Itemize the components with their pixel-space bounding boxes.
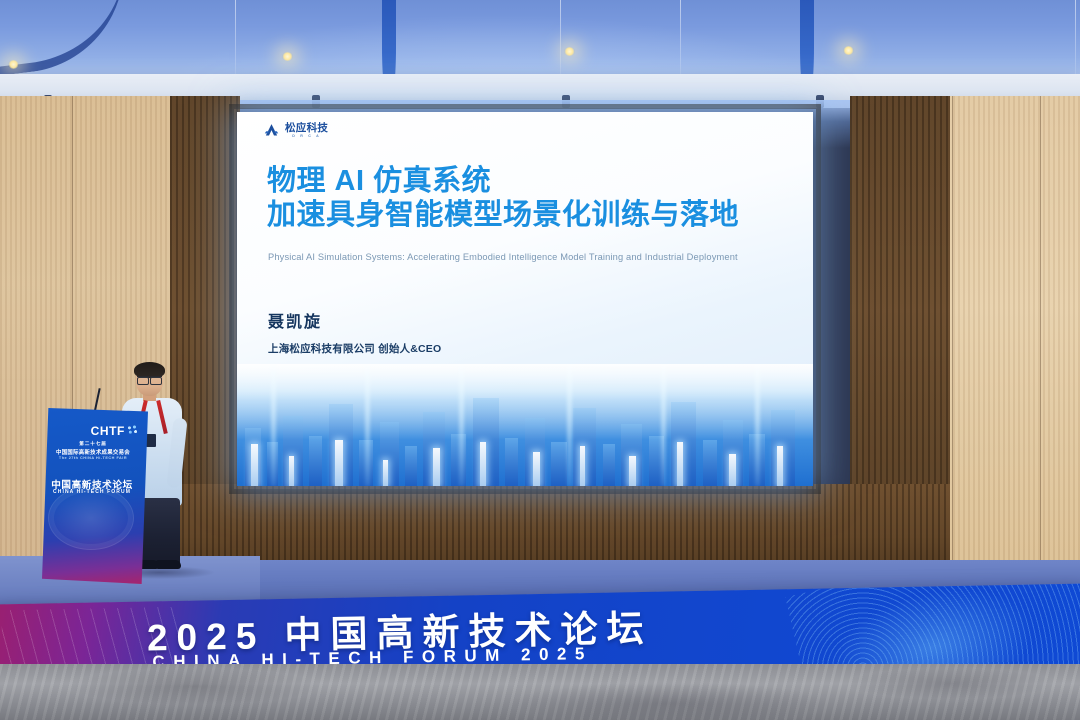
conference-stage-photo: 松应科技 D R C A 物理 AI 仿真系统 加速具身智能模型场景化训练与落地…	[0, 0, 1080, 720]
slide-title-line2: 加速具身智能模型场景化训练与落地	[267, 198, 787, 232]
venue-floor	[0, 664, 1080, 720]
slide: 松应科技 D R C A 物理 AI 仿真系统 加速具身智能模型场景化训练与落地…	[237, 112, 813, 486]
podium-ripple-graphic	[48, 486, 134, 550]
wall-panel-right	[938, 96, 1080, 566]
slide-title: 物理 AI 仿真系统 加速具身智能模型场景化训练与落地	[267, 164, 787, 232]
podium-brand: CHTF	[91, 424, 138, 438]
ceiling-downlight-icon	[564, 47, 575, 56]
slide-title-line1: 物理 AI 仿真系统	[267, 164, 787, 198]
floor-texture	[0, 664, 1080, 720]
wall-panel-dark-bottom	[170, 484, 950, 572]
podium-fair-cn: 中国国际高新技术成果交易会	[42, 448, 144, 456]
slide-cityscape-image	[237, 364, 813, 486]
badge-icon	[146, 434, 156, 447]
glasses-icon	[137, 376, 162, 382]
podium-brand-text: CHTF	[91, 424, 125, 438]
ceiling-downlight-icon	[843, 46, 854, 55]
ceiling-downlight-icon	[282, 52, 293, 61]
chtf-dots-icon	[127, 425, 138, 435]
presentation-screen: 松应科技 D R C A 物理 AI 仿真系统 加速具身智能模型场景化训练与落地…	[237, 112, 813, 486]
ceiling-arc	[0, 0, 136, 82]
wall-seam	[952, 96, 953, 572]
slide-subtitle-en: Physical AI Simulation Systems: Accelera…	[268, 252, 738, 262]
logo-name-cn: 松应科技	[285, 123, 328, 134]
podium-edition-cn: 第二十七届	[42, 441, 144, 447]
wall-seam	[1040, 96, 1041, 572]
podium: CHTF 第二十七届 中国国际高新技术成果交易会 The 27th CHINA …	[42, 408, 148, 584]
mountain-mark-icon	[263, 122, 280, 139]
slide-speaker-name: 聂凯旋	[268, 308, 441, 332]
ceiling-downlight-icon	[8, 60, 19, 69]
podium-fair-en: The 27th CHINA Hi-TECH FAIR	[42, 456, 144, 460]
podium-forum-en: CHINA HI-TECH FORUM	[42, 489, 142, 495]
slide-speaker-block: 聂凯旋 上海松应科技有限公司 创始人&CEO	[268, 308, 441, 356]
slide-speaker-role: 上海松应科技有限公司 创始人&CEO	[268, 341, 441, 356]
company-logo: 松应科技 D R C A	[263, 122, 328, 139]
logo-name-en: D R C A	[285, 135, 328, 139]
